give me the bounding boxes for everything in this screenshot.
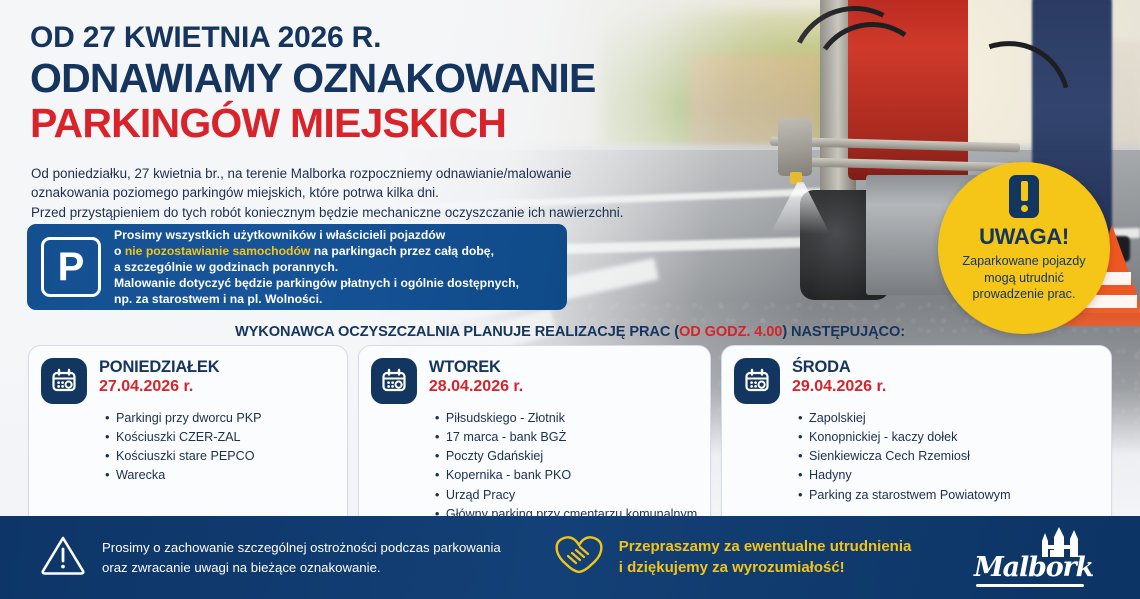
list-item: Kościuszki CZER-ZAL (105, 428, 335, 447)
list-item: Sienkiewicza Cech Rzemiosł (798, 447, 1099, 466)
headline-line-1: ODNAWIAMY OZNAKOWANIE (30, 57, 730, 100)
list-item: Kopernika - bank PKO (435, 466, 698, 485)
footer-warning-line-2: oraz zwracanie uwagi na bieżące oznakowa… (102, 558, 501, 577)
attention-badge-line-3: prowadzenie prac. (962, 286, 1085, 303)
exclamation-dot (1021, 205, 1028, 212)
footer-warning-line-1: Prosimy o zachowanie szczególnej ostrożn… (102, 538, 501, 557)
list-item: Poczty Gdańskiej (435, 447, 698, 466)
parking-notice-line-5: np. za starostwem i na pl. Wolności. (114, 291, 519, 307)
parking-notice-highlight: nie pozostawianie samochodów (125, 244, 311, 258)
footer-apology-text: Przepraszamy za ewentualne utrudnienia i… (619, 537, 912, 578)
calendar-icon (371, 358, 417, 404)
intro-line-3: Przed przystąpieniem do tych robót konie… (31, 203, 671, 222)
day-name: WTOREK (429, 358, 523, 376)
exclamation-bar (1021, 181, 1028, 201)
day-name: ŚRODA (792, 358, 886, 376)
attention-badge-text: Zaparkowane pojazdy mogą utrudnić prowad… (962, 253, 1085, 303)
parking-notice-line-4: Malowanie dotyczyć będzie parkingów płat… (114, 275, 519, 291)
parking-notice-line-3: a szczególnie w godzinach porannych. (114, 259, 519, 275)
calendar-icon (734, 358, 780, 404)
day-card-header: ŚRODA 29.04.2026 r. (734, 358, 1099, 404)
poster-root: OD 27 KWIETNIA 2026 R. ODNAWIAMY OZNAKOW… (0, 0, 1140, 599)
list-item: Parkingi przy dworcu PKP (105, 409, 335, 428)
footer-apology-line-2: i dziękujemy za wyrozumiałość! (619, 558, 912, 578)
list-item: Konopnickiej - kaczy dołek (798, 428, 1099, 447)
parking-notice-text: Prosimy wszystkich użytkowników i właści… (114, 227, 519, 307)
day-date: 28.04.2026 r. (429, 378, 523, 396)
headline-line-2: PARKINGÓW MIEJSKICH (30, 102, 730, 145)
malbork-logo-underline (976, 584, 1084, 587)
day-card-title: WTOREK 28.04.2026 r. (429, 358, 523, 397)
schedule-header: WYKONAWCA OCZYSZCZALNIA PLANUJE REALIZAC… (0, 324, 1140, 340)
attention-badge: UWAGA! Zaparkowane pojazdy mogą utrudnić… (938, 162, 1110, 334)
attention-badge-title: UWAGA! (979, 224, 1069, 250)
day-date: 27.04.2026 r. (99, 378, 219, 396)
footer-warning-text: Prosimy o zachowanie szczególnej ostrożn… (102, 538, 501, 576)
schedule-header-after: ) NASTĘPUJĄCO: (782, 324, 905, 340)
day-card-title: PONIEDZIAŁEK 27.04.2026 r. (99, 358, 219, 397)
parking-notice-box: P Prosimy wszystkich użytkowników i właś… (27, 224, 567, 310)
calendar-icon (41, 358, 87, 404)
parking-notice-line-2-prefix: o (114, 244, 125, 258)
intro-line-1: Od poniedziałku, 27 kwietnia br., na ter… (31, 164, 671, 183)
day-location-list: Piłsudskiego - Złotnik 17 marca - bank B… (371, 409, 698, 524)
parking-notice-line-2: o nie pozostawianie samochodów na parkin… (114, 243, 519, 259)
footer-bar: Prosimy o zachowanie szczególnej ostrożn… (0, 516, 1140, 599)
parking-notice-line-2-suffix: na parkingach przez całą dobę, (310, 244, 494, 258)
day-location-list: Zapolskiej Konopnickiej - kaczy dołek Si… (734, 409, 1099, 505)
attention-badge-line-2: mogą utrudnić (962, 270, 1085, 287)
schedule-header-time: OD GODZ. 4.00 (679, 324, 782, 340)
malbork-logo: Malbork (974, 527, 1094, 589)
intro-paragraph: Od poniedziałku, 27 kwietnia br., na ter… (31, 164, 671, 222)
list-item: Parking za starostwem Powiatowym (798, 486, 1099, 505)
parking-notice-line-1: Prosimy wszystkich użytkowników i właści… (114, 227, 519, 243)
footer-apology-line-1: Przepraszamy za ewentualne utrudnienia (619, 537, 912, 557)
day-card-header: WTOREK 28.04.2026 r. (371, 358, 698, 404)
day-name: PONIEDZIAŁEK (99, 358, 219, 376)
parking-p-icon: P (41, 237, 101, 297)
day-card-wednesday: ŚRODA 29.04.2026 r. Zapolskiej Konopnick… (721, 345, 1112, 537)
day-card-header: PONIEDZIAŁEK 27.04.2026 r. (41, 358, 335, 404)
headline-kicker: OD 27 KWIETNIA 2026 R. (30, 22, 730, 54)
schedule-header-before: WYKONAWCA OCZYSZCZALNIA PLANUJE REALIZAC… (235, 324, 679, 340)
list-item: Hadyny (798, 466, 1099, 485)
day-card-tuesday: WTOREK 28.04.2026 r. Piłsudskiego - Złot… (358, 345, 711, 537)
day-card-monday: PONIEDZIAŁEK 27.04.2026 r. Parkingi przy… (28, 345, 348, 537)
warning-triangle-icon (40, 534, 86, 581)
list-item: Urząd Pracy (435, 486, 698, 505)
list-item: 17 marca - bank BGŻ (435, 428, 698, 447)
day-date: 29.04.2026 r. (792, 378, 886, 396)
schedule-cards: PONIEDZIAŁEK 27.04.2026 r. Parkingi przy… (28, 345, 1112, 537)
headline-block: OD 27 KWIETNIA 2026 R. ODNAWIAMY OZNAKOW… (30, 22, 730, 146)
handshake-heart-icon (553, 532, 605, 583)
list-item: Warecka (105, 466, 335, 485)
attention-badge-line-1: Zaparkowane pojazdy (962, 253, 1085, 270)
malbork-logo-text: Malbork (974, 552, 1094, 583)
intro-line-2: oznakowania poziomego parkingów miejskic… (31, 183, 671, 202)
day-location-list: Parkingi przy dworcu PKP Kościuszki CZER… (41, 409, 335, 486)
exclamation-icon (1009, 175, 1039, 218)
list-item: Piłsudskiego - Złotnik (435, 409, 698, 428)
list-item: Kościuszki stare PEPCO (105, 447, 335, 466)
list-item: Zapolskiej (798, 409, 1099, 428)
day-card-title: ŚRODA 29.04.2026 r. (792, 358, 886, 397)
